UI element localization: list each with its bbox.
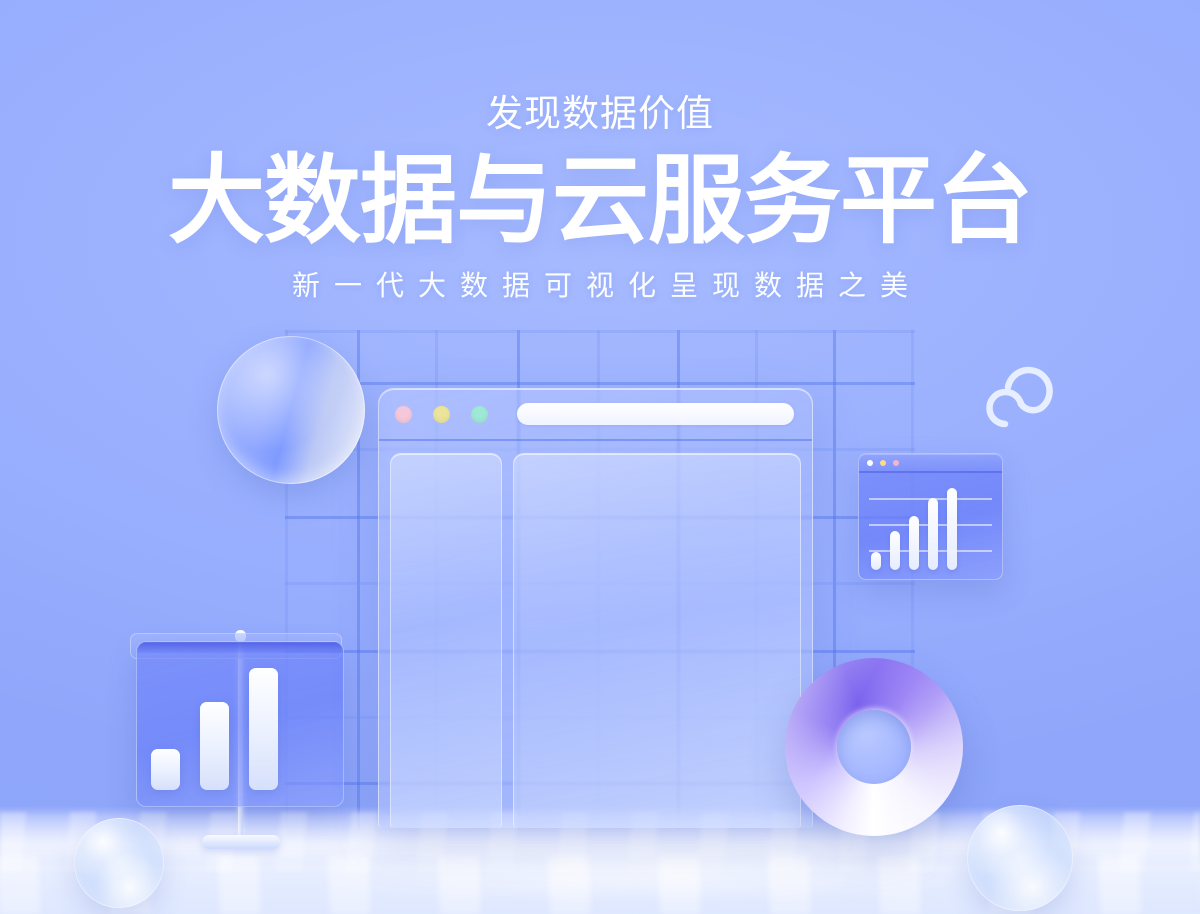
bar-item	[200, 702, 229, 790]
mini-chart-bars	[871, 488, 992, 570]
content-panel[interactable]	[513, 453, 801, 828]
bar-item	[151, 749, 180, 790]
subtitle-text: 新一代大数据可视化呈现数据之美	[0, 264, 1200, 304]
gradient-disc	[217, 336, 365, 484]
hero-copy: 发现数据价值 大数据与云服务平台 新一代大数据可视化呈现数据之美	[0, 0, 1200, 304]
browser-content	[379, 441, 812, 828]
bar-chart-card[interactable]	[136, 641, 344, 807]
glass-sphere-right	[967, 805, 1073, 911]
maximize-dot[interactable]	[471, 406, 488, 423]
page-title: 大数据与云服务平台	[0, 150, 1200, 252]
browser-window[interactable]	[378, 388, 813, 828]
bar-card-body	[136, 641, 344, 807]
pink-dot[interactable]	[893, 460, 899, 466]
yellow-dot[interactable]	[880, 460, 886, 466]
minimize-dot[interactable]	[433, 406, 450, 423]
bar-item	[871, 552, 881, 570]
browser-titlebar	[379, 389, 812, 441]
mini-card-titlebar	[859, 454, 1002, 473]
bar-item	[928, 498, 938, 570]
mini-chart-card[interactable]	[858, 453, 1003, 580]
hero-stage: 发现数据价值 大数据与云服务平台 新一代大数据可视化呈现数据之美	[0, 0, 1200, 914]
donut-gloss	[785, 658, 963, 836]
bar-item	[909, 516, 919, 570]
bar-item	[249, 668, 278, 790]
white-dot[interactable]	[867, 460, 873, 466]
eyebrow-text: 发现数据价值	[0, 92, 1200, 136]
bar-chart-bars	[151, 668, 331, 790]
mini-chart-plot	[859, 473, 1002, 579]
donut-ring	[785, 658, 963, 836]
cloud-icon	[975, 363, 1067, 437]
glass-sphere-left	[74, 818, 164, 908]
url-input[interactable]	[517, 403, 794, 425]
sidebar-panel[interactable]	[390, 453, 502, 828]
bar-item	[947, 488, 957, 570]
close-dot[interactable]	[395, 406, 412, 423]
bar-item	[890, 531, 900, 570]
